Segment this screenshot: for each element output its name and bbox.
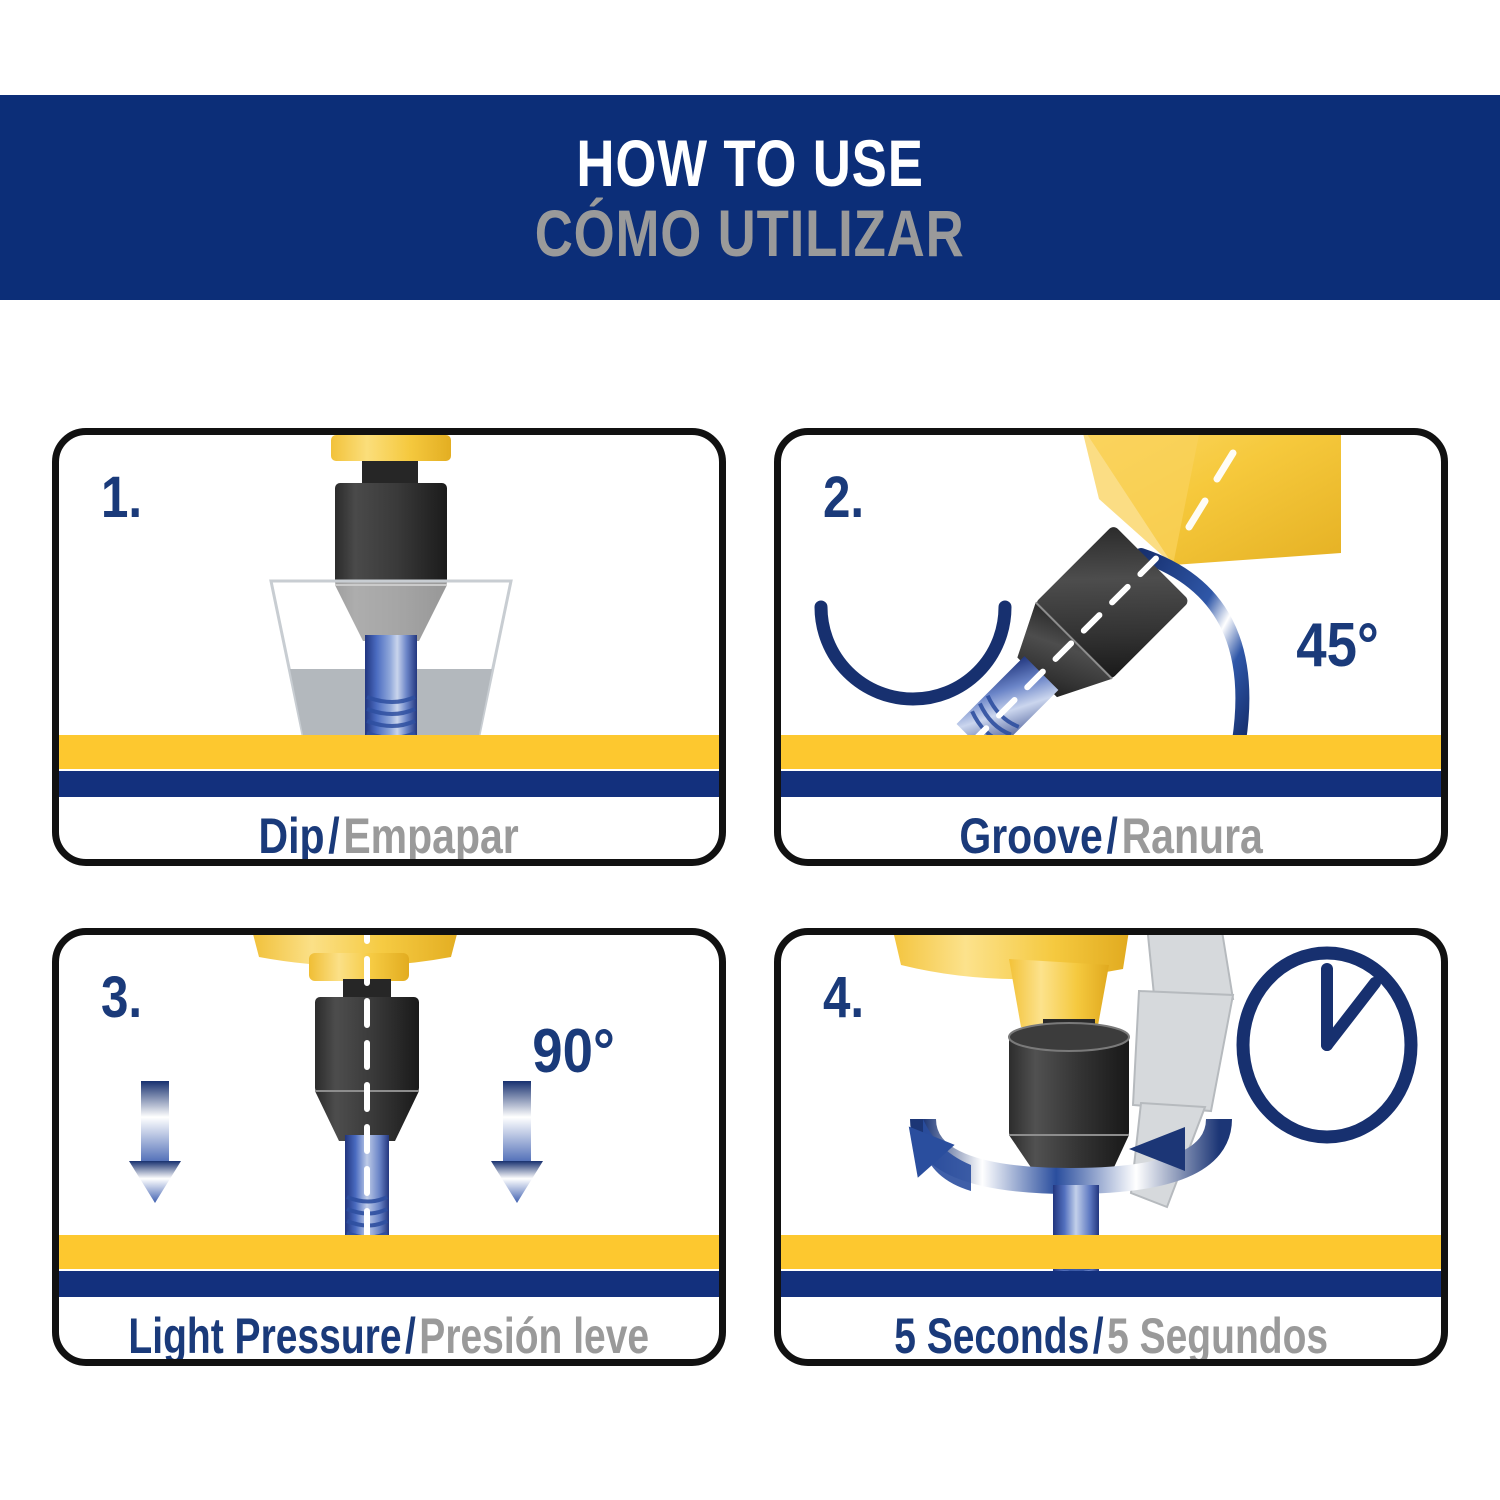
header-banner: HOW TO USE CÓMO UTILIZAR <box>0 95 1500 300</box>
down-arrow-right <box>491 1081 543 1203</box>
step-number-4: 4. <box>823 969 864 1027</box>
step-number-1: 1. <box>101 469 142 527</box>
surface-stripe-yellow <box>59 735 719 769</box>
surface-stripe-yellow <box>781 735 1441 769</box>
surface-stripe-yellow <box>781 1235 1441 1269</box>
step-panel-3[interactable]: 3. 90° Light Pressure / Presión leve <box>52 928 726 1366</box>
surface-stripe-yellow <box>59 1235 719 1269</box>
steps-grid: 1. Dip / Empapar <box>52 428 1448 1368</box>
caption-separator-3: / <box>405 1308 416 1364</box>
step-panel-1[interactable]: 1. Dip / Empapar <box>52 428 726 866</box>
clock-icon <box>1243 953 1411 1137</box>
step-number-3: 3. <box>101 969 142 1027</box>
down-arrow-left <box>129 1081 181 1203</box>
step-1-caption: Dip / Empapar <box>59 803 719 866</box>
step-3-caption: Light Pressure / Presión leve <box>59 1303 719 1366</box>
surface-stripe-blue <box>781 771 1441 797</box>
caption-english-3: Light Pressure <box>129 1308 402 1364</box>
how-to-use-infographic: HOW TO USE CÓMO UTILIZAR <box>0 0 1500 1500</box>
angle-label-45: 45° <box>1296 615 1379 677</box>
caption-spanish-3: Presión leve <box>420 1308 650 1364</box>
caption-separator-1: / <box>329 808 340 864</box>
step-panel-4[interactable]: 4. 5 Seconds / 5 Segundos <box>774 928 1448 1366</box>
surface-stripe-blue <box>59 771 719 797</box>
surface-stripe-blue <box>781 1271 1441 1297</box>
caption-english-2: Groove <box>959 808 1103 864</box>
caption-separator-4: / <box>1093 1308 1104 1364</box>
step-2-caption: Groove / Ranura <box>781 803 1441 866</box>
caption-spanish-1: Empapar <box>344 808 519 864</box>
caption-english-1: Dip <box>259 808 325 864</box>
step-number-2: 2. <box>823 469 864 527</box>
page-subtitle: CÓMO UTILIZAR <box>535 200 965 266</box>
step-panel-2[interactable]: 2. 45° Groove / Ranura <box>774 428 1448 866</box>
surface-stripe-blue <box>59 1271 719 1297</box>
page-title: HOW TO USE <box>576 130 923 196</box>
step-4-caption: 5 Seconds / 5 Segundos <box>781 1303 1441 1366</box>
angle-label-90: 90° <box>532 1021 615 1083</box>
caption-spanish-2: Ranura <box>1121 808 1262 864</box>
caption-separator-2: / <box>1106 808 1117 864</box>
caption-english-4: 5 Seconds <box>894 1308 1089 1364</box>
caption-spanish-4: 5 Segundos <box>1107 1308 1328 1364</box>
